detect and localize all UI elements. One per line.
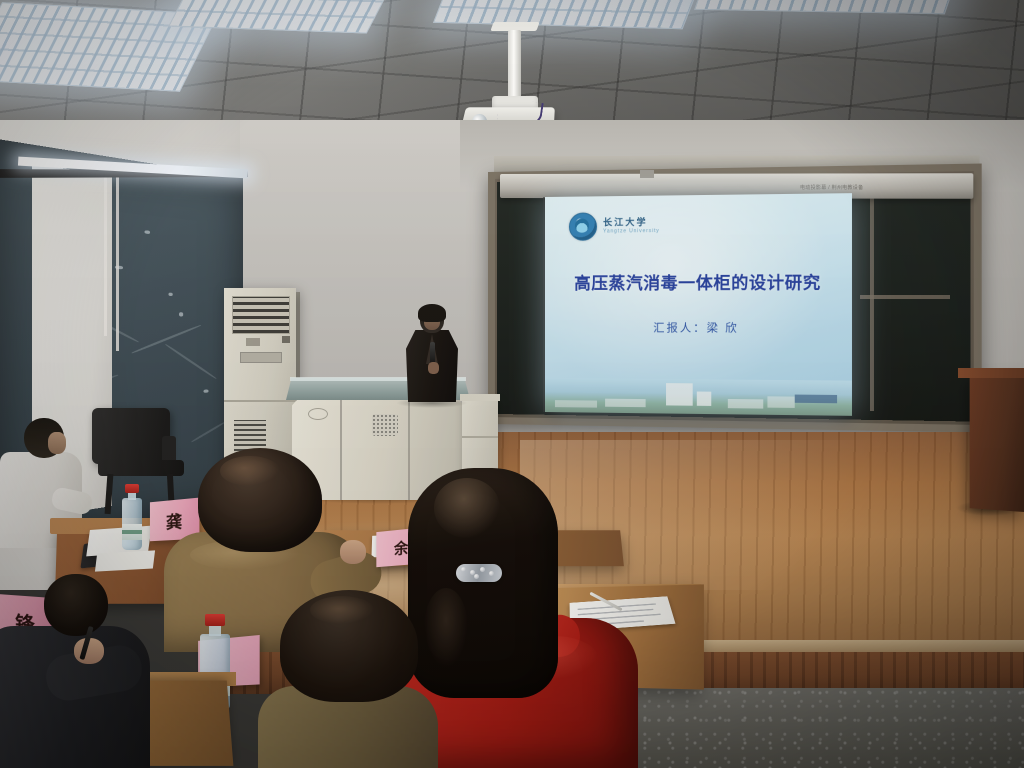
person-face [48,432,66,454]
air-conditioner-display [282,336,290,343]
presenter-hand [428,362,439,374]
slide-photo-watermark [795,395,837,404]
bottle-cap [205,614,225,626]
console-speaker-grille-icon [372,414,398,436]
slide-title: 高压蒸汽消毒一体柜的设计研究 [545,269,852,294]
slide-footer-campus-photo [545,378,852,416]
person-head [44,574,108,636]
lecture-hall-photo: 电动投影幕 / 荆州电教设备 长江大学 Yangtze University 高… [0,0,1024,768]
person-hair-highlight [434,478,500,538]
bottle-cap [125,484,139,493]
projector-mount-pole [508,30,521,100]
presenter [404,306,460,402]
air-conditioner-badge [246,338,260,346]
lectern-top [958,368,1024,378]
screen-housing-bracket [640,170,654,178]
hair-clip-icon [456,564,502,582]
audience-member-dark-hair [268,590,428,768]
person-hair-highlight [310,596,374,624]
blackboard-chalk-rail [860,295,950,299]
curtain-cord[interactable] [104,176,107,336]
curtain-cord-secondary[interactable] [116,176,119,351]
console-handle[interactable] [308,408,328,420]
person-hair-highlight [220,456,280,486]
air-conditioner-seam [224,400,296,402]
chair-leg [105,474,114,514]
chair-backrest [92,408,170,464]
audience-member-taking-notes [0,530,150,768]
screen-housing-label: 电动投影幕 / 荆州电教设备 [800,184,886,192]
university-logo-inner-icon [575,219,589,233]
wooden-lectern [970,372,1024,512]
slide-presenter-line: 汇报人：梁 欣 [545,319,852,336]
university-name-en: Yangtze University [603,228,660,235]
microphone-icon [430,342,435,364]
side-cabinet-seam [462,436,498,438]
air-conditioner-top-grille-icon [232,296,290,334]
air-conditioner-control-panel[interactable] [240,352,282,363]
person-hair-highlight [424,588,468,668]
person-hand [340,540,366,564]
presenter-hair [418,304,446,322]
university-name-cn: 长江大学 [603,215,648,229]
projection-screen: 长江大学 Yangtze University 高压蒸汽消毒一体柜的设计研究 汇… [545,193,852,416]
lower-floor-texture [600,688,1024,768]
